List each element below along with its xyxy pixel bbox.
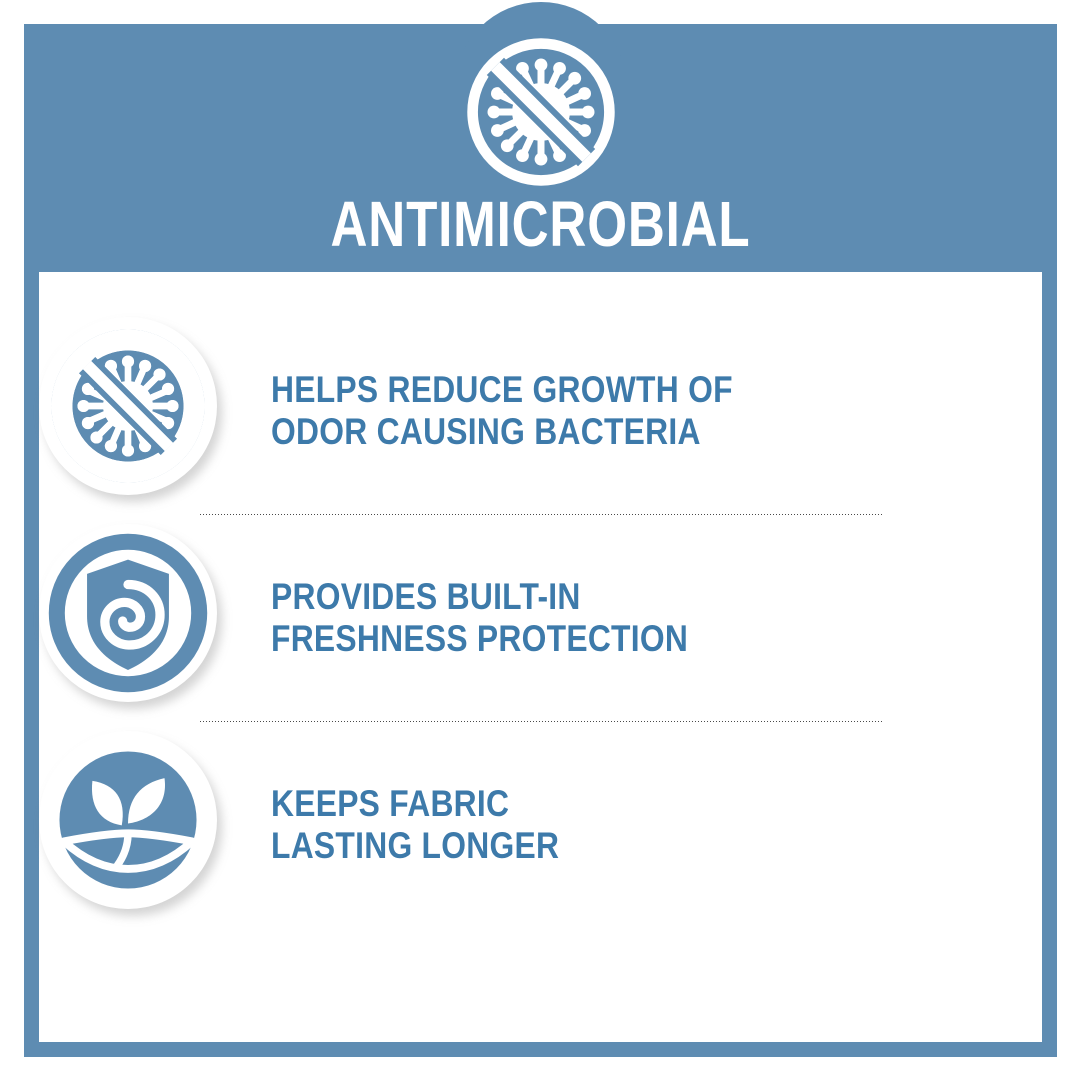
badge-disc: [39, 731, 217, 909]
feature-badge: [39, 524, 227, 712]
feature-row: KEEPS FABRIC LASTING LONGER: [39, 722, 1042, 928]
badge-disc: [39, 524, 217, 702]
badge-disc: [39, 317, 217, 495]
shield-swirl-icon: [39, 524, 217, 702]
feature-label: KEEPS FABRIC LASTING LONGER: [271, 783, 559, 867]
header-band: ANTIMICROBIAL: [24, 24, 1057, 272]
feature-label: PROVIDES BUILT-IN FRESHNESS PROTECTION: [271, 576, 688, 660]
feature-row: PROVIDES BUILT-IN FRESHNESS PROTECTION: [39, 515, 1042, 721]
no-germ-icon: [465, 36, 617, 188]
page-title: ANTIMICROBIAL: [127, 192, 953, 256]
feature-list: HELPS REDUCE GROWTH OF ODOR CAUSING BACT…: [39, 272, 1042, 1042]
antimicrobial-infographic: ANTIMICROBIAL: [0, 0, 1080, 1080]
sprout-leaf-icon: [39, 731, 217, 909]
no-germ-icon: [39, 317, 217, 495]
feature-badge: [39, 731, 227, 919]
feature-row: HELPS REDUCE GROWTH OF ODOR CAUSING BACT…: [39, 308, 1042, 514]
feature-badge: [39, 317, 227, 505]
feature-label: HELPS REDUCE GROWTH OF ODOR CAUSING BACT…: [271, 369, 733, 453]
